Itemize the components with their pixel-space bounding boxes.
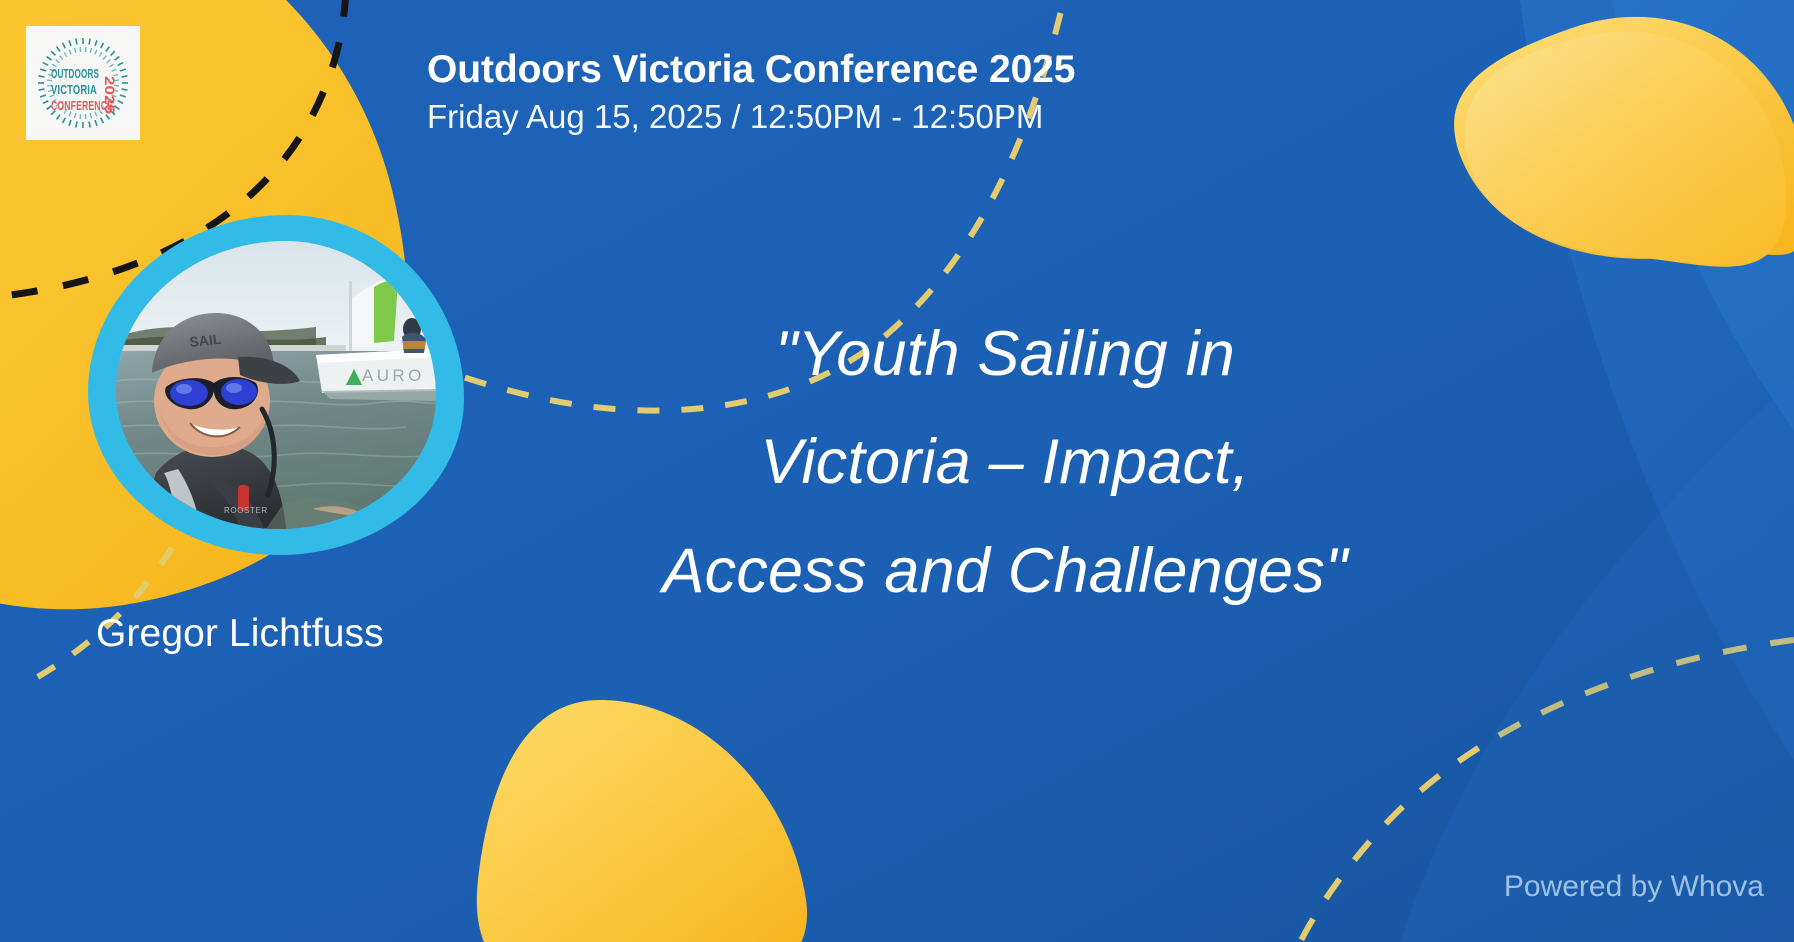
conference-title: Outdoors Victoria Conference 2025: [427, 48, 1477, 92]
svg-text:SAIL: SAIL: [189, 331, 223, 350]
session-title: "Youth Sailing in Victoria – Impact, Acc…: [500, 300, 1510, 625]
session-title-line-2: Victoria – Impact,: [500, 408, 1510, 516]
logo-year: 2025: [102, 76, 118, 114]
conference-logo: OUTDOORS VICTORIA CONFERENCE 2025: [26, 26, 140, 140]
session-slide: OUTDOORS VICTORIA CONFERENCE 2025 Outdoo…: [0, 0, 1794, 942]
logo-line-1: OUTDOORS: [51, 66, 99, 81]
speaker-avatar: AURO ROOSTER: [88, 215, 464, 555]
logo-line-2: VICTORIA: [51, 82, 97, 97]
session-title-line-1: "Youth Sailing in: [500, 300, 1510, 408]
svg-text:ROOSTER: ROOSTER: [224, 506, 268, 515]
svg-text:AURO: AURO: [362, 366, 425, 385]
powered-by-whova: Powered by Whova: [1504, 870, 1764, 904]
header-block: Outdoors Victoria Conference 2025 Friday…: [427, 48, 1477, 136]
speaker-name: Gregor Lichtfuss: [96, 612, 384, 656]
conference-logo-mark: OUTDOORS VICTORIA CONFERENCE 2025: [31, 31, 135, 135]
session-datetime: Friday Aug 15, 2025 / 12:50PM - 12:50PM: [427, 98, 1477, 136]
session-title-line-3: Access and Challenges": [500, 517, 1510, 625]
